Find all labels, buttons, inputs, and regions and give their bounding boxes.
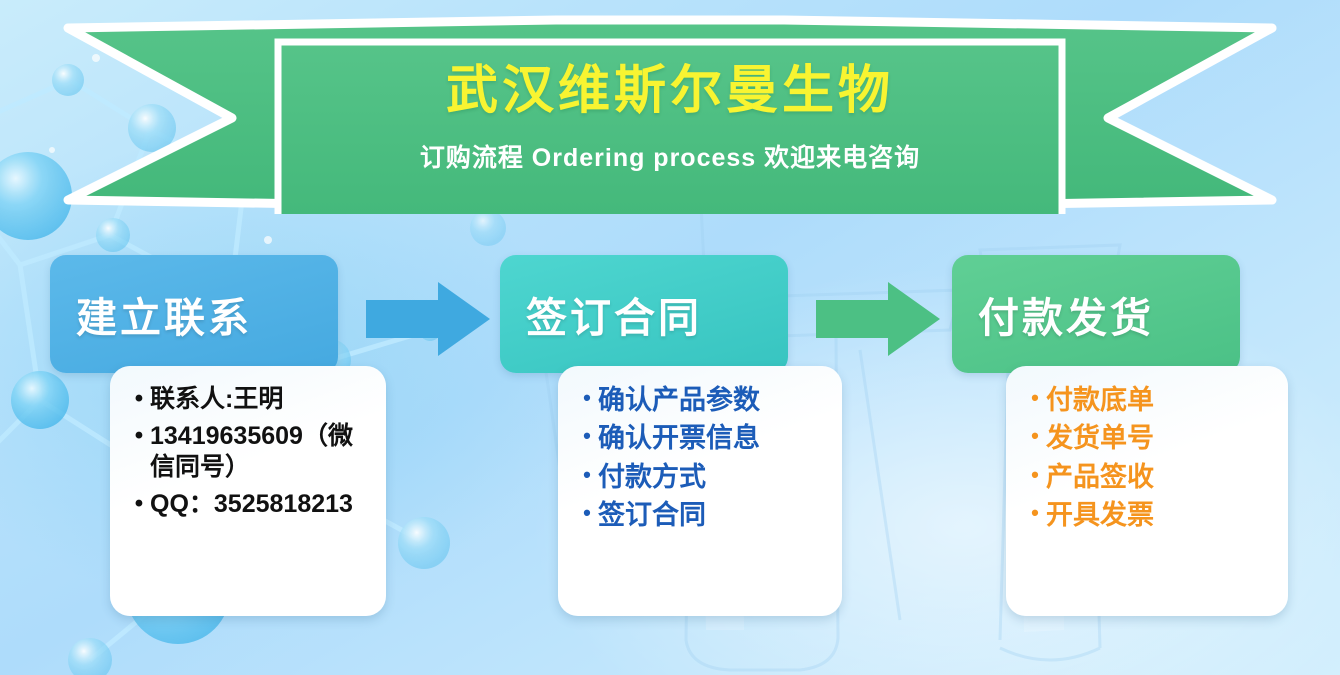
arrow-right-icon — [366, 282, 490, 356]
list-item: • 确认产品参数 — [576, 384, 828, 417]
arrow-right-icon — [816, 282, 940, 356]
step-card-shipping-header: 付款发货 — [952, 255, 1240, 373]
list-item: • 付款底单 — [1024, 384, 1274, 417]
step-card-contact-header: 建立联系 — [50, 255, 338, 373]
list-item: • 联系人:王明 — [128, 384, 372, 415]
contract-detail-list: • 确认产品参数 • 确认开票信息 • 付款方式 • 签订合同 — [576, 384, 828, 533]
bullet-icon: • — [576, 422, 598, 449]
step-card-contact-heading: 建立联系 — [76, 284, 252, 344]
step-card-contract-header: 签订合同 — [500, 255, 788, 373]
shipping-item-1: 付款底单 — [1046, 384, 1154, 417]
list-item: • 13419635609（微信同号） — [128, 421, 372, 483]
banner-title: 武汉维斯尔曼生物 — [446, 62, 894, 120]
bullet-icon: • — [576, 499, 598, 526]
contract-item-2: 确认开票信息 — [598, 422, 760, 455]
step-card-shipping[interactable]: 付款发货 — [952, 255, 1240, 373]
list-item: • 开具发票 — [1024, 499, 1274, 532]
contract-item-3: 付款方式 — [598, 461, 706, 494]
contact-phone: 13419635609（微信同号） — [150, 421, 372, 483]
list-item: • 确认开票信息 — [576, 422, 828, 455]
banner-subtitle: 订购流程 Ordering process 欢迎来电咨询 — [420, 138, 920, 174]
shipping-item-4: 开具发票 — [1046, 499, 1154, 532]
step-panel-contact: • 联系人:王明 • 13419635609（微信同号） • QQ：352581… — [110, 366, 386, 616]
contact-qq: QQ：3525818213 — [150, 489, 353, 520]
bullet-icon: • — [576, 384, 598, 411]
step-card-contract-heading: 签订合同 — [526, 284, 702, 344]
shipping-item-2: 发货单号 — [1046, 422, 1154, 455]
step-card-contract[interactable]: 签订合同 — [500, 255, 788, 373]
contact-detail-list: • 联系人:王明 • 13419635609（微信同号） • QQ：352581… — [128, 384, 372, 520]
bullet-icon: • — [128, 489, 150, 519]
banner: 武汉维斯尔曼生物 订购流程 Ordering process 欢迎来电咨询 — [62, 14, 1278, 214]
bullet-icon: • — [1024, 384, 1046, 411]
bullet-icon: • — [1024, 461, 1046, 488]
list-item: • 产品签收 — [1024, 461, 1274, 494]
contract-item-4: 签订合同 — [598, 499, 706, 532]
list-item: • QQ：3525818213 — [128, 489, 372, 520]
step-panel-contract: • 确认产品参数 • 确认开票信息 • 付款方式 • 签订合同 — [558, 366, 842, 616]
bullet-icon: • — [128, 384, 150, 414]
poster-canvas: 武汉维斯尔曼生物 订购流程 Ordering process 欢迎来电咨询 建立… — [0, 0, 1340, 675]
bullet-icon: • — [1024, 499, 1046, 526]
shipping-item-3: 产品签收 — [1046, 461, 1154, 494]
bullet-icon: • — [1024, 422, 1046, 449]
contract-item-1: 确认产品参数 — [598, 384, 760, 417]
step-card-shipping-heading: 付款发货 — [978, 284, 1154, 344]
shipping-detail-list: • 付款底单 • 发货单号 • 产品签收 • 开具发票 — [1024, 384, 1274, 533]
list-item: • 付款方式 — [576, 461, 828, 494]
step-card-contact[interactable]: 建立联系 — [50, 255, 338, 373]
bullet-icon: • — [128, 421, 150, 451]
list-item: • 签订合同 — [576, 499, 828, 532]
list-item: • 发货单号 — [1024, 422, 1274, 455]
step-panel-shipping: • 付款底单 • 发货单号 • 产品签收 • 开具发票 — [1006, 366, 1288, 616]
bullet-icon: • — [576, 461, 598, 488]
contact-person: 联系人:王明 — [150, 384, 283, 415]
